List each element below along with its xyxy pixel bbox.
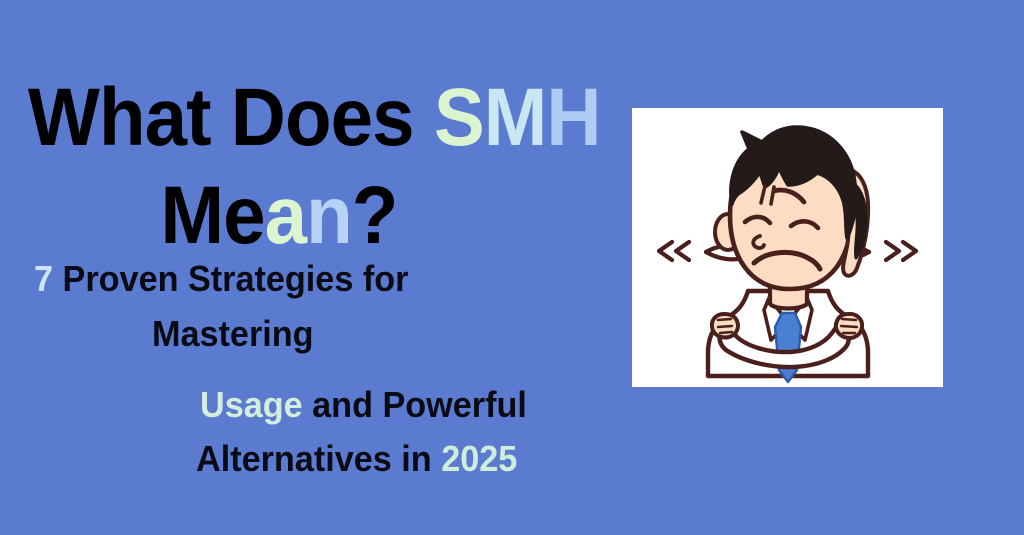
- shaking-head-man-illustration: [632, 108, 943, 387]
- headline-question-mark: ?: [352, 170, 398, 261]
- subheadline-line-1-text: Proven Strategies for: [53, 258, 408, 299]
- subheadline-usage-accent: Usage: [200, 384, 303, 425]
- text-column: What Does SMH Mean? 7 Proven Strategies …: [0, 0, 625, 535]
- subheadline-year: 2025: [441, 438, 517, 479]
- subheadline-line-1: 7 Proven Strategies for: [34, 255, 408, 303]
- page-title: What Does SMH Mean?: [0, 69, 642, 265]
- subheadline-line-3: Usage and Powerful: [200, 381, 527, 429]
- headline-letter-a: a: [265, 170, 306, 261]
- subheadline-line-4: Alternatives in 2025: [196, 435, 517, 483]
- headline-me: Me: [161, 170, 265, 261]
- headline-letter-h: H: [546, 72, 600, 163]
- headline-letter-n: n: [306, 170, 352, 261]
- headline-line-1: What Does SMH: [28, 72, 601, 163]
- subheadline-number: 7: [34, 258, 53, 299]
- necktie: [775, 313, 801, 382]
- illustration-panel: [632, 108, 943, 387]
- subheadline-line-4-text: Alternatives in: [196, 438, 441, 479]
- headline-letter-s: S: [434, 72, 484, 163]
- headline-line-2: Mean?: [19, 167, 540, 265]
- headline-what-does: What Does: [28, 72, 434, 163]
- smh-banner: What Does SMH Mean? 7 Proven Strategies …: [0, 0, 1024, 535]
- headline-letter-m: M: [484, 72, 547, 163]
- subheadline-line-3-text: and Powerful: [303, 384, 527, 425]
- subheadline-line-2: Mastering: [152, 310, 314, 358]
